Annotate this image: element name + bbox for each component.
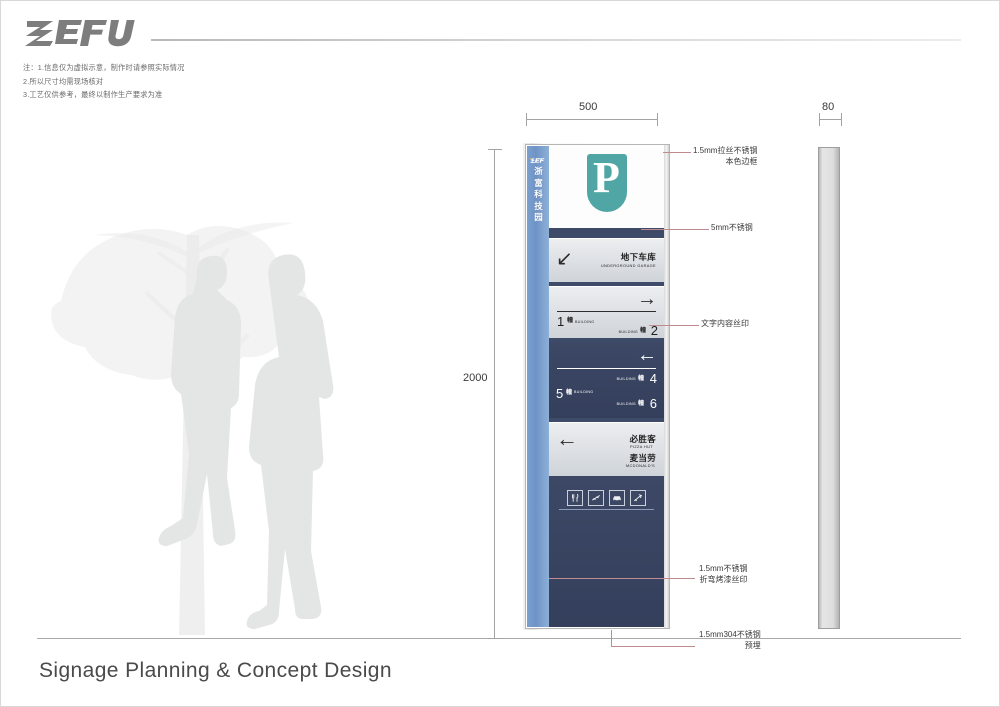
brand-char: 技 bbox=[531, 201, 546, 213]
dim-tick bbox=[526, 113, 527, 126]
callout-steel-5mm: 5mm不锈钢 bbox=[711, 222, 753, 233]
building-en: BUILDING bbox=[619, 330, 638, 334]
callout-silkscreen: 文字内容丝印 bbox=[701, 318, 749, 329]
parking-shield-icon: P bbox=[587, 154, 627, 212]
page-title: Signage Planning & Concept Design bbox=[39, 659, 392, 683]
note-line: 2.所以尺寸均需现场核对 bbox=[23, 75, 273, 89]
panel-rule bbox=[557, 368, 656, 369]
dim-tick bbox=[819, 113, 820, 126]
arrow-left-icon: ← bbox=[556, 429, 578, 449]
callout-line: 5mm不锈钢 bbox=[711, 222, 753, 233]
building-number: 6 bbox=[650, 396, 657, 411]
dim-tick bbox=[657, 113, 658, 126]
building-en: BUILDING bbox=[574, 390, 593, 394]
sign-front-elevation: 浙 富 科 技 园 P ↙ 地下车库 UNDERGROUND GARAGE bbox=[525, 144, 670, 629]
callout-line: 1.5mm304不锈钢 bbox=[699, 629, 761, 640]
design-sheet: 注：1.信息仅为虚拟示意，制作时请参照实际情况 2.所以尺寸均需现场核对 3.工… bbox=[0, 0, 1000, 707]
callout-leader bbox=[663, 152, 691, 153]
panel-buildings-4-5-6: ← BUILDING 幢 4 5 幢 BUILDING BUILDING 幢 6 bbox=[549, 342, 664, 418]
sign-body: P ↙ 地下车库 UNDERGROUND GARAGE → 1 幢 BUILDI… bbox=[549, 146, 664, 627]
restaurant-icon bbox=[567, 490, 583, 506]
retail-label-en: PIZZA HUT bbox=[630, 444, 653, 449]
callout-leader bbox=[611, 646, 695, 647]
callout-embedded: 1.5mm304不锈钢 预埋 bbox=[699, 629, 761, 651]
brand-char: 浙 bbox=[531, 166, 546, 178]
brand-char: 园 bbox=[531, 212, 546, 224]
arrow-right-icon: → bbox=[637, 289, 657, 309]
zefu-logo bbox=[25, 15, 155, 53]
brand-char: 富 bbox=[531, 178, 546, 190]
panel-amenities bbox=[549, 476, 664, 627]
garage-label-cn: 地下车库 bbox=[621, 251, 656, 263]
arrow-down-left-icon: ↙ bbox=[556, 249, 573, 269]
parking-header-panel: P bbox=[549, 146, 664, 229]
callout-leader bbox=[641, 229, 709, 230]
building-en: BUILDING bbox=[617, 377, 636, 381]
callout-bent-paint: 1.5mm不锈钢 折弯烤漆丝印 bbox=[699, 563, 747, 585]
dim-line-front bbox=[526, 119, 657, 120]
callout-line: 预埋 bbox=[699, 640, 761, 651]
garage-label-en: UNDERGROUND GARAGE bbox=[601, 263, 656, 268]
building-number: 5 bbox=[556, 386, 563, 401]
building-number: 4 bbox=[650, 371, 657, 386]
building-en: BUILDING bbox=[575, 320, 594, 324]
background-scene bbox=[1, 121, 521, 641]
note-line: 3.工艺仅供参考，最终以制作生产要求为准 bbox=[23, 88, 273, 102]
callout-leader bbox=[549, 578, 695, 579]
amenity-underline bbox=[559, 509, 654, 510]
zefu-badge-icon bbox=[530, 152, 547, 160]
panel-buildings-1-2: → 1 幢 BUILDING BUILDING 幢 2 bbox=[549, 286, 664, 338]
panel-retail: ← 必胜客 PIZZA HUT 麦当劳 MCDONALD'S bbox=[549, 422, 664, 476]
design-notes: 注：1.信息仅为虚拟示意，制作时请参照实际情况 2.所以尺寸均需现场核对 3.工… bbox=[23, 61, 273, 102]
brand-strip: 浙 富 科 技 园 bbox=[527, 146, 549, 627]
building-cn: 幢 bbox=[638, 373, 644, 382]
callout-line: 本色边框 bbox=[693, 156, 757, 167]
parking-letter: P bbox=[593, 157, 620, 199]
retail-label-en: MCDONALD'S bbox=[626, 463, 655, 468]
sign-side-elevation bbox=[818, 147, 840, 629]
callout-frame: 1.5mm拉丝不锈钢 本色边框 bbox=[693, 145, 757, 167]
callout-line: 1.5mm拉丝不锈钢 bbox=[693, 145, 757, 156]
building-cn: 幢 bbox=[567, 315, 573, 324]
building-number: 1 bbox=[557, 314, 564, 329]
panel-garage: ↙ 地下车库 UNDERGROUND GARAGE bbox=[549, 238, 664, 282]
brand-char: 科 bbox=[531, 189, 546, 201]
car-parking-icon bbox=[609, 490, 625, 506]
dim-width-front: 500 bbox=[579, 101, 597, 113]
note-line: 注：1.信息仅为虚拟示意，制作时请参照实际情况 bbox=[23, 61, 273, 75]
building-en: BUILDING bbox=[617, 402, 636, 406]
amenity-icon-row bbox=[549, 490, 664, 506]
dim-width-side: 80 bbox=[822, 101, 834, 113]
callout-leader bbox=[649, 325, 699, 326]
header-divider bbox=[151, 39, 961, 41]
dim-tick bbox=[841, 113, 842, 126]
panel-rule bbox=[557, 311, 656, 312]
callout-line: 文字内容丝印 bbox=[701, 318, 749, 329]
dim-tick bbox=[488, 638, 502, 639]
dim-line-side bbox=[819, 119, 841, 120]
dim-line-height bbox=[494, 149, 495, 638]
sign-right-edge bbox=[664, 145, 669, 628]
cafe-icon bbox=[588, 490, 604, 506]
building-cn: 幢 bbox=[566, 387, 572, 396]
dim-height: 2000 bbox=[460, 370, 490, 386]
building-cn: 幢 bbox=[638, 398, 644, 407]
callout-leader bbox=[611, 630, 612, 647]
services-icon bbox=[630, 490, 646, 506]
callout-line: 1.5mm不锈钢 bbox=[699, 563, 747, 574]
callout-line: 折弯烤漆丝印 bbox=[699, 574, 747, 585]
building-cn: 幢 bbox=[640, 325, 646, 334]
brand-vertical-text: 浙 富 科 技 园 bbox=[531, 166, 546, 224]
arrow-left-icon: ← bbox=[637, 345, 657, 365]
dim-tick bbox=[488, 149, 502, 150]
